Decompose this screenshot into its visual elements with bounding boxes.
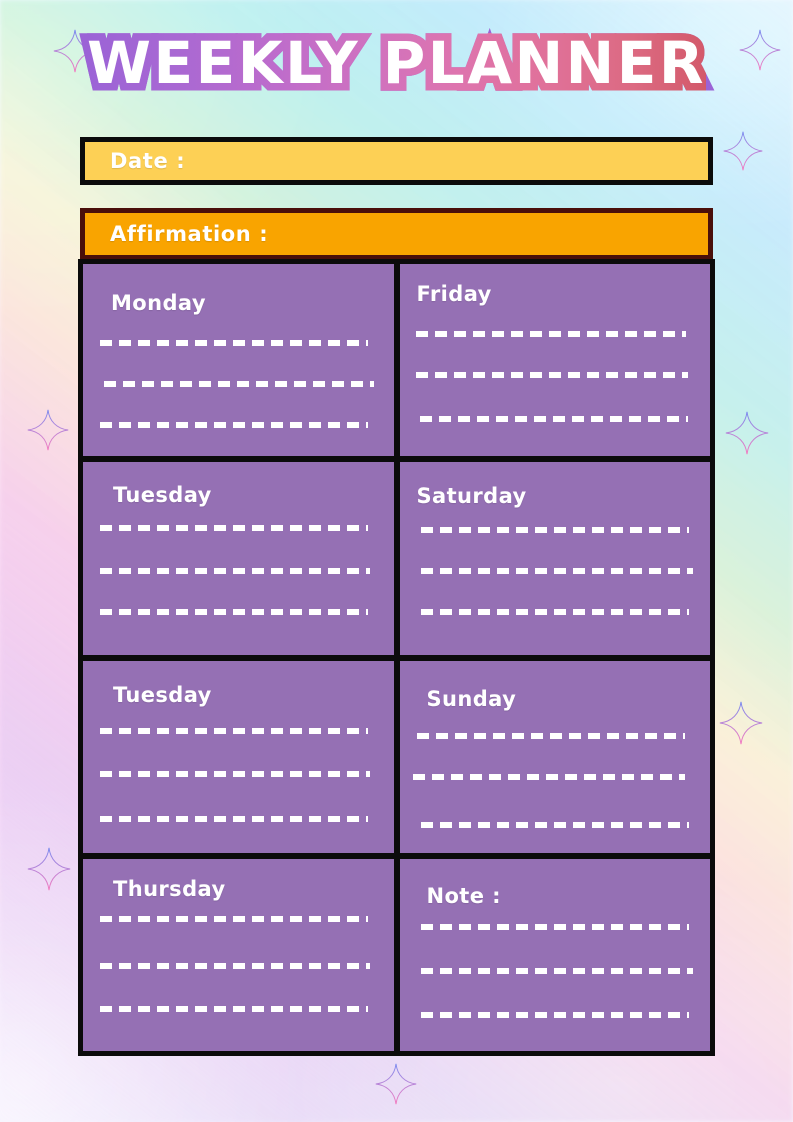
planner-cell-label: Thursday (113, 877, 226, 901)
writing-line (100, 609, 368, 615)
writing-line (421, 568, 693, 574)
writing-line (100, 771, 370, 777)
writing-line (100, 568, 370, 574)
date-field-label: Date : (85, 149, 185, 173)
planner-cell-label: Friday (417, 282, 492, 306)
page-title: WEEKLY PLANNERWEEKLY PLANNERWEEKLY PLANN… (0, 33, 793, 94)
planner-cell-label: Saturday (417, 484, 527, 508)
planner-cell[interactable]: Note : (400, 859, 711, 1051)
writing-line (421, 609, 689, 615)
writing-line (100, 963, 370, 969)
page-title-text: WEEKLY PLANNERWEEKLY PLANNERWEEKLY PLANN… (87, 33, 706, 94)
date-field[interactable]: Date : (80, 137, 713, 185)
writing-line (416, 331, 686, 337)
writing-line (416, 372, 688, 378)
planner-cell-label: Tuesday (113, 683, 212, 707)
writing-line (104, 381, 374, 387)
writing-line (417, 733, 685, 739)
writing-line (421, 527, 689, 533)
four-point-star-sparkle (26, 408, 70, 452)
planner-cell[interactable]: Friday (400, 264, 711, 456)
planner-cell-label: Monday (111, 291, 206, 315)
writing-line (421, 822, 689, 828)
writing-line (100, 422, 368, 428)
writing-line (420, 416, 688, 422)
four-point-star-sparkle (718, 700, 764, 746)
writing-line (100, 916, 368, 922)
planner-cell-label: Sunday (427, 687, 517, 711)
writing-line (421, 1012, 689, 1018)
weekly-grid: MondayFridayTuesdaySaturdayTuesdaySunday… (78, 259, 715, 1056)
planner-cell[interactable]: Tuesday (83, 462, 394, 654)
four-point-star-sparkle (374, 1062, 418, 1106)
affirmation-field[interactable]: Affirmation : (80, 208, 713, 260)
writing-line (100, 728, 368, 734)
planner-cell[interactable]: Tuesday (83, 661, 394, 853)
four-point-star-sparkle (724, 410, 770, 456)
writing-line (413, 774, 685, 780)
writing-line (100, 525, 368, 531)
writing-line (421, 968, 693, 974)
four-point-star-sparkle (26, 846, 72, 892)
writing-line (100, 340, 368, 346)
planner-page: WEEKLY PLANNERWEEKLY PLANNERWEEKLY PLANN… (0, 0, 793, 1122)
planner-cell-label: Note : (427, 884, 501, 908)
planner-cell-label: Tuesday (113, 483, 212, 507)
planner-cell[interactable]: Saturday (400, 462, 711, 654)
planner-cell[interactable]: Monday (83, 264, 394, 456)
four-point-star-sparkle (722, 130, 764, 172)
planner-cell[interactable]: Sunday (400, 661, 711, 853)
writing-line (100, 816, 368, 822)
planner-cell[interactable]: Thursday (83, 859, 394, 1051)
writing-line (421, 924, 689, 930)
affirmation-field-label: Affirmation : (85, 222, 268, 246)
page-title-label: WEEKLY PLANNER (87, 33, 706, 94)
writing-line (100, 1006, 368, 1012)
